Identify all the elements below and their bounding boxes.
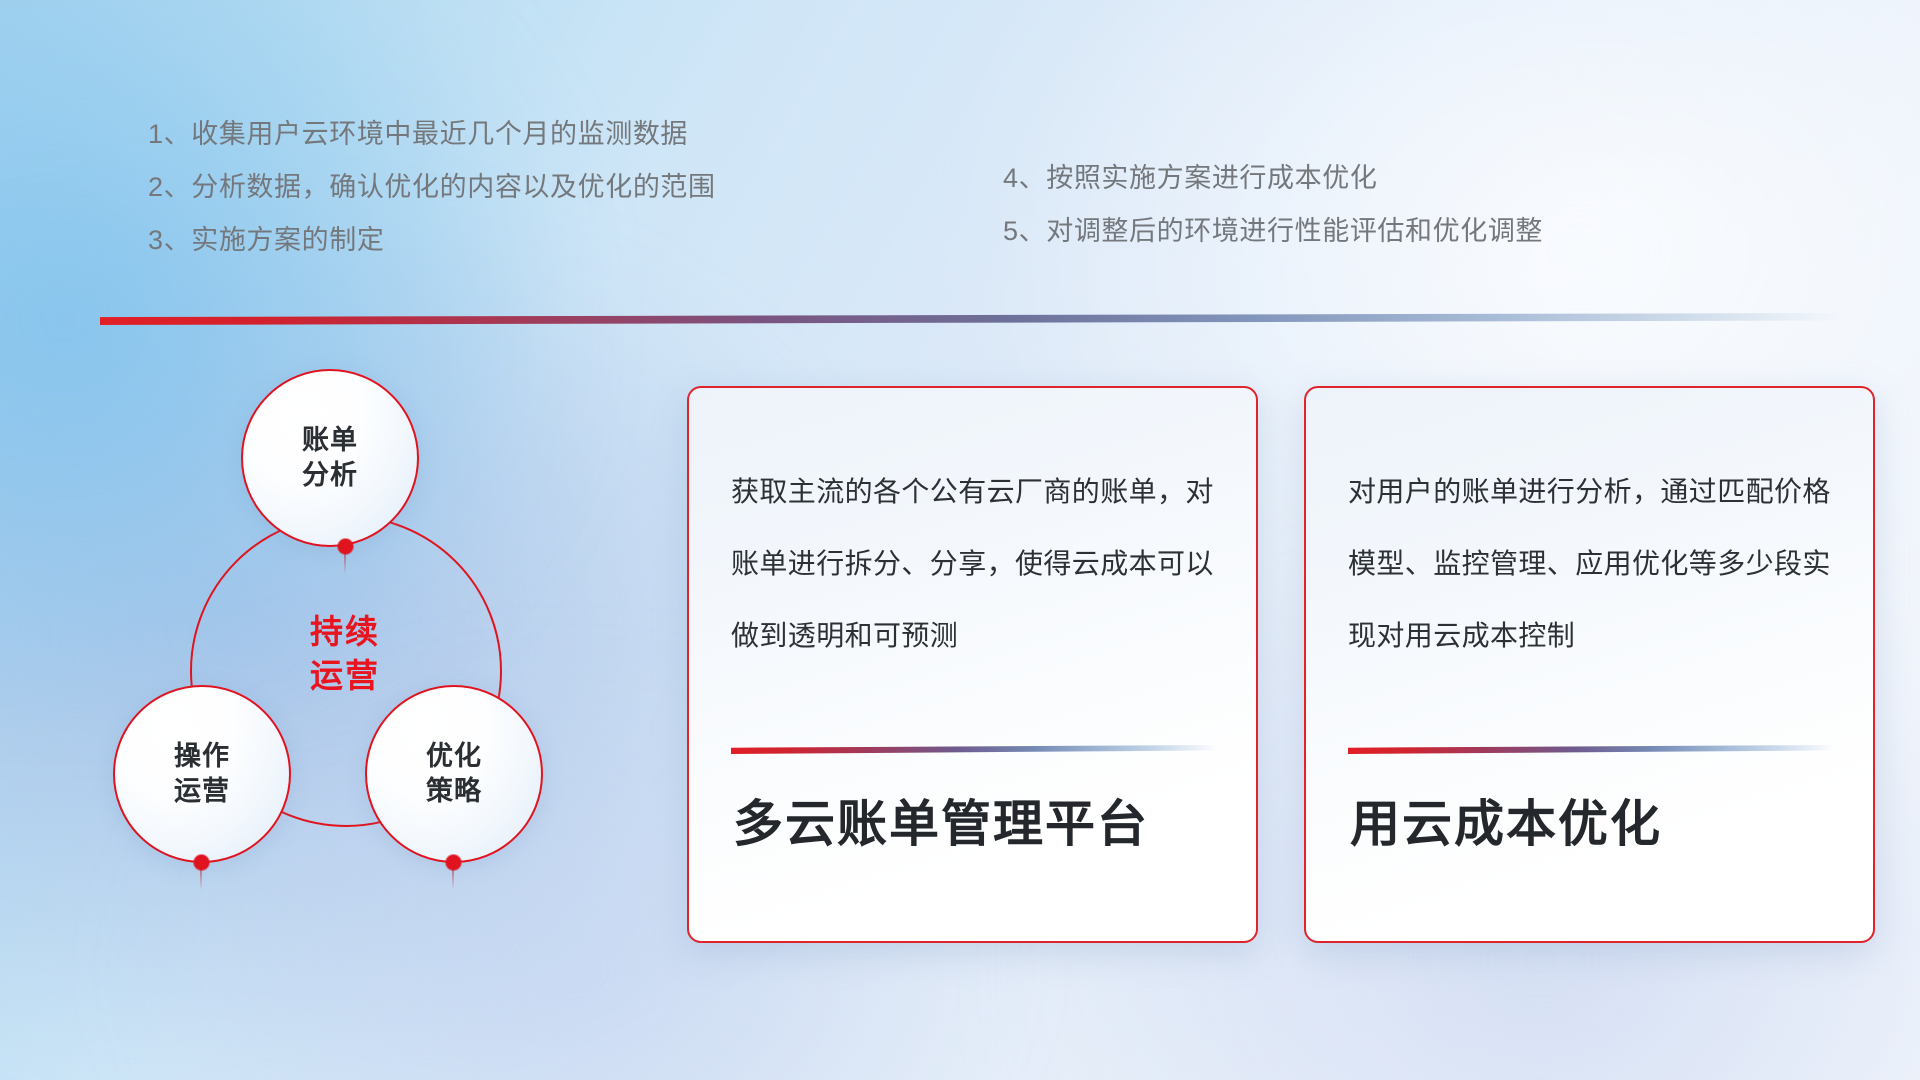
steps-left-column: 1、收集用户云环境中最近几个月的监测数据 2、分析数据，确认优化的内容以及优化的… xyxy=(148,108,716,267)
section-divider xyxy=(100,313,1844,325)
diagram-node-bill-analysis[interactable]: 账单 分析 xyxy=(241,369,419,547)
diagram-center-label-line1: 持续 xyxy=(255,610,435,654)
diagram-node-label: 账单 分析 xyxy=(302,423,358,493)
node-label-line2: 分析 xyxy=(302,458,358,493)
section-divider-bar xyxy=(100,313,1844,325)
card-body-text: 对用户的账单进行分析，通过匹配价格模型、监控管理、应用优化等多少段实现对用云成本… xyxy=(1348,456,1837,672)
step-item-1: 1、收集用户云环境中最近几个月的监测数据 xyxy=(148,108,716,161)
node-label-line1: 优化 xyxy=(426,739,482,774)
diagram-center-label: 持续 运营 xyxy=(255,610,435,698)
diagram-node-label: 优化 策略 xyxy=(426,739,482,809)
continuous-operation-diagram: 持续 运营 账单 分析 操作 运营 优化 策略 xyxy=(95,355,635,955)
node-label-line2: 策略 xyxy=(426,774,482,809)
slide-canvas: 1、收集用户云环境中最近几个月的监测数据 2、分析数据，确认优化的内容以及优化的… xyxy=(0,0,1920,1080)
step-item-2: 2、分析数据，确认优化的内容以及优化的范围 xyxy=(148,161,716,214)
feature-card-cloud-cost-optimization[interactable]: 对用户的账单进行分析，通过匹配价格模型、监控管理、应用优化等多少段实现对用云成本… xyxy=(1304,386,1875,943)
card-title: 用云成本优化 xyxy=(1350,792,1843,856)
node-label-line2: 运营 xyxy=(174,774,230,809)
diagram-node-operations[interactable]: 操作 运营 xyxy=(113,685,291,863)
step-item-3: 3、实施方案的制定 xyxy=(148,214,716,267)
card-body-text: 获取主流的各个公有云厂商的账单，对账单进行拆分、分享，使得云成本可以做到透明和可… xyxy=(731,456,1220,672)
node-label-line1: 账单 xyxy=(302,423,358,458)
card-divider xyxy=(731,745,1218,754)
node-label-line1: 操作 xyxy=(174,739,230,774)
card-title: 多云账单管理平台 xyxy=(733,792,1226,856)
step-item-5: 5、对调整后的环境进行性能评估和优化调整 xyxy=(1003,205,1543,258)
step-item-4: 4、按照实施方案进行成本优化 xyxy=(1003,152,1543,205)
diagram-dot-bottom-right xyxy=(446,855,461,870)
card-divider xyxy=(1348,745,1835,754)
diagram-center-label-line2: 运营 xyxy=(255,654,435,698)
card-divider-bar xyxy=(731,745,1218,754)
feature-card-multicloud-billing[interactable]: 获取主流的各个公有云厂商的账单，对账单进行拆分、分享，使得云成本可以做到透明和可… xyxy=(687,386,1258,943)
steps-right-column: 4、按照实施方案进行成本优化 5、对调整后的环境进行性能评估和优化调整 xyxy=(1003,152,1543,258)
diagram-dot-bottom-left xyxy=(194,855,209,870)
diagram-dot-top xyxy=(338,539,353,554)
card-divider-bar xyxy=(1348,745,1835,754)
diagram-node-optimization-strategy[interactable]: 优化 策略 xyxy=(365,685,543,863)
diagram-node-label: 操作 运营 xyxy=(174,739,230,809)
